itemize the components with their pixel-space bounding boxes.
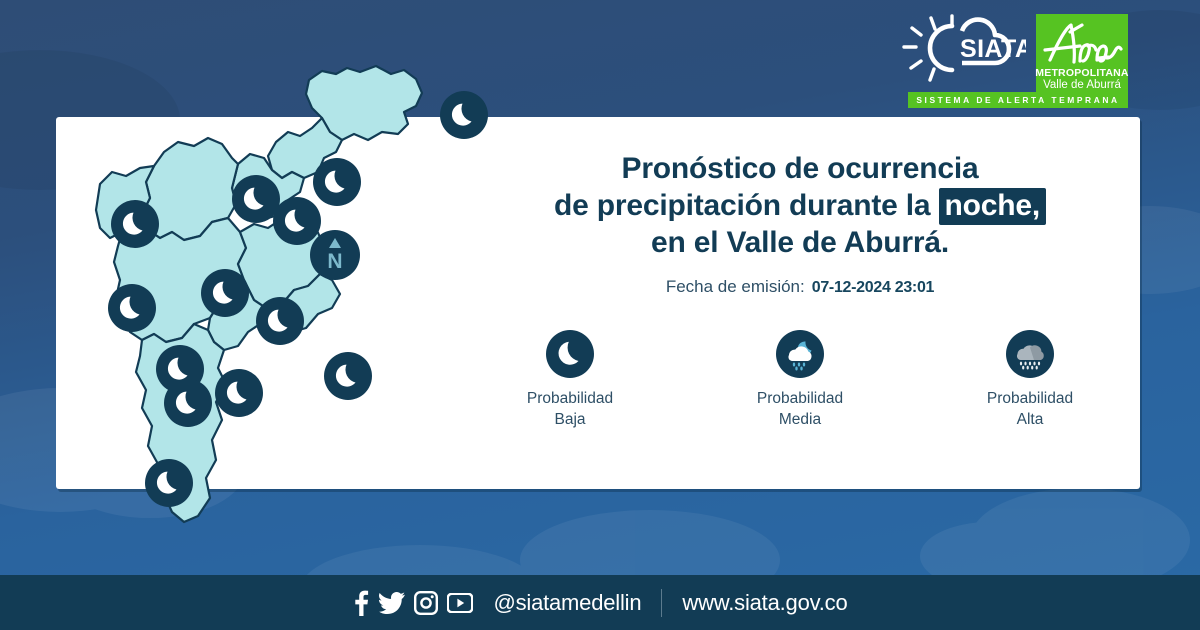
youtube-icon[interactable] bbox=[447, 593, 473, 613]
title-highlight-noche: noche, bbox=[939, 188, 1046, 225]
footer-divider bbox=[661, 589, 662, 617]
legend-label-alta: Probabilidad Alta bbox=[987, 388, 1073, 430]
website-link[interactable]: www.siata.gov.co bbox=[682, 590, 847, 616]
legend-media-line2: Media bbox=[757, 409, 843, 430]
legend-label-media: Probabilidad Media bbox=[757, 388, 843, 430]
map-svg: N bbox=[60, 46, 440, 566]
map-marker-sabaneta[interactable] bbox=[215, 369, 263, 417]
page-title: Pronóstico de ocurrencia de precipitació… bbox=[470, 150, 1130, 261]
area-logo-line2: Valle de Aburrá bbox=[1043, 79, 1121, 92]
siata-logo: SIATA bbox=[900, 14, 1026, 88]
tagline-bar: SISTEMA DE ALERTA TEMPRANA bbox=[908, 92, 1128, 108]
map-marker-bello[interactable] bbox=[273, 197, 321, 245]
title-line-2: de precipitación durante la noche, bbox=[470, 187, 1130, 224]
title-line-2-text: de precipitación durante la bbox=[554, 189, 930, 222]
map-marker-east-spur[interactable] bbox=[324, 352, 372, 400]
map-marker-barbosa[interactable] bbox=[440, 91, 488, 139]
legend-item-alta[interactable]: Probabilidad Alta bbox=[955, 330, 1105, 430]
moon-icon bbox=[546, 330, 594, 378]
title-line-3: en el Valle de Aburrá. bbox=[470, 224, 1130, 261]
legend-alta-line1: Probabilidad bbox=[987, 388, 1073, 409]
map-marker-laestrella[interactable] bbox=[164, 379, 212, 427]
legend-item-media[interactable]: Probabilidad Media bbox=[725, 330, 875, 430]
brand-logos: SIATA METROPOLITANA Valle de Aburrá bbox=[900, 14, 1128, 96]
probability-legend: Probabilidad Baja Probabilidad Media bbox=[470, 330, 1130, 430]
valle-de-aburra-map: N bbox=[60, 46, 440, 566]
legend-baja-line1: Probabilidad bbox=[527, 388, 613, 409]
map-marker-girardota[interactable] bbox=[313, 158, 361, 206]
issue-date-row: Fecha de emisión: 07-12-2024 23:01 bbox=[470, 277, 1130, 297]
map-marker-medellin-nw[interactable] bbox=[108, 284, 156, 332]
twitter-icon[interactable] bbox=[379, 592, 405, 614]
legend-label-baja: Probabilidad Baja bbox=[527, 388, 613, 430]
map-marker-envigado[interactable] bbox=[256, 297, 304, 345]
cloud-heavy-rain-icon bbox=[1006, 330, 1054, 378]
forecast-text-block: Pronóstico de ocurrencia de precipitació… bbox=[470, 150, 1130, 297]
legend-item-baja[interactable]: Probabilidad Baja bbox=[495, 330, 645, 430]
legend-baja-line2: Baja bbox=[527, 409, 613, 430]
area-logo-line1: METROPOLITANA bbox=[1035, 68, 1128, 79]
area-metropolitana-logo: METROPOLITANA Valle de Aburrá bbox=[1036, 14, 1128, 96]
map-marker-caldas[interactable] bbox=[145, 459, 193, 507]
map-marker-sanpedro[interactable] bbox=[111, 200, 159, 248]
facebook-icon[interactable] bbox=[352, 590, 370, 616]
compass-north-icon: N bbox=[310, 230, 360, 280]
issue-date-label: Fecha de emisión: bbox=[666, 277, 805, 297]
social-handle[interactable]: @siatamedellin bbox=[493, 590, 641, 616]
sun-arc bbox=[930, 26, 952, 70]
map-marker-copacabana[interactable] bbox=[232, 175, 280, 223]
legend-media-line1: Probabilidad bbox=[757, 388, 843, 409]
instagram-icon[interactable] bbox=[414, 591, 438, 615]
legend-alta-line2: Alta bbox=[987, 409, 1073, 430]
siata-wordmark: SIATA bbox=[960, 35, 1026, 63]
area-script-icon bbox=[1040, 16, 1124, 68]
cloud-moon-rain-icon bbox=[776, 330, 824, 378]
issue-date-value: 07-12-2024 23:01 bbox=[812, 279, 934, 297]
map-marker-medellin[interactable] bbox=[201, 269, 249, 317]
title-line-1: Pronóstico de ocurrencia bbox=[470, 150, 1130, 187]
footer-bar: @siatamedellin www.siata.gov.co bbox=[0, 575, 1200, 630]
compass-label: N bbox=[327, 250, 342, 273]
social-icons bbox=[352, 590, 473, 616]
